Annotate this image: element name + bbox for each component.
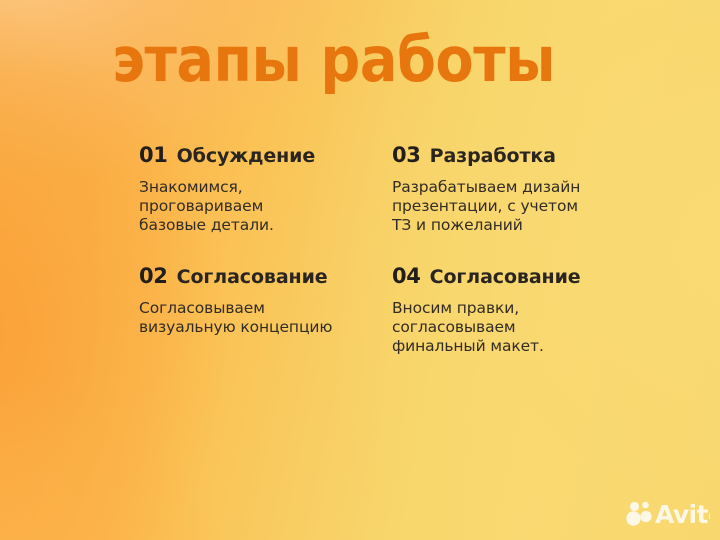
step-item-03: 03 Разработка Разрабатываем дизайн презе… xyxy=(392,143,647,235)
step-title-label: Обсуждение xyxy=(177,145,316,167)
step-title-label: Согласование xyxy=(177,266,328,288)
step-number: 04 xyxy=(392,264,421,288)
step-number: 02 xyxy=(139,264,168,288)
avito-watermark: Avito xyxy=(624,497,710,529)
step-header: 01 Обсуждение xyxy=(139,143,384,167)
step-header: 03 Разработка xyxy=(392,143,647,167)
step-header: 04 Согласование xyxy=(392,264,647,288)
step-number: 03 xyxy=(392,143,421,167)
step-item-01: 01 Обсуждение Знакомимся, проговариваем … xyxy=(139,143,384,235)
step-description: Знакомимся, проговариваем базовые детали… xyxy=(139,178,384,235)
step-description: Согласовываем визуальную концепцию xyxy=(139,299,384,337)
step-description: Разрабатываем дизайн презентации, с учет… xyxy=(392,178,647,235)
avito-dots-icon xyxy=(626,502,651,526)
avito-wordmark: Avito xyxy=(655,500,710,529)
step-item-04: 04 Согласование Вносим правки, согласовы… xyxy=(392,264,647,356)
slide-canvas: этапы работы 01 Обсуждение Знакомимся, п… xyxy=(0,0,720,540)
step-number: 01 xyxy=(139,143,168,167)
step-title-label: Согласование xyxy=(430,266,581,288)
step-description: Вносим правки, согласовываем финальный м… xyxy=(392,299,647,356)
page-title: этапы работы xyxy=(112,26,555,94)
step-item-02: 02 Согласование Согласовываем визуальную… xyxy=(139,264,384,337)
step-header: 02 Согласование xyxy=(139,264,384,288)
step-title-label: Разработка xyxy=(430,145,556,167)
